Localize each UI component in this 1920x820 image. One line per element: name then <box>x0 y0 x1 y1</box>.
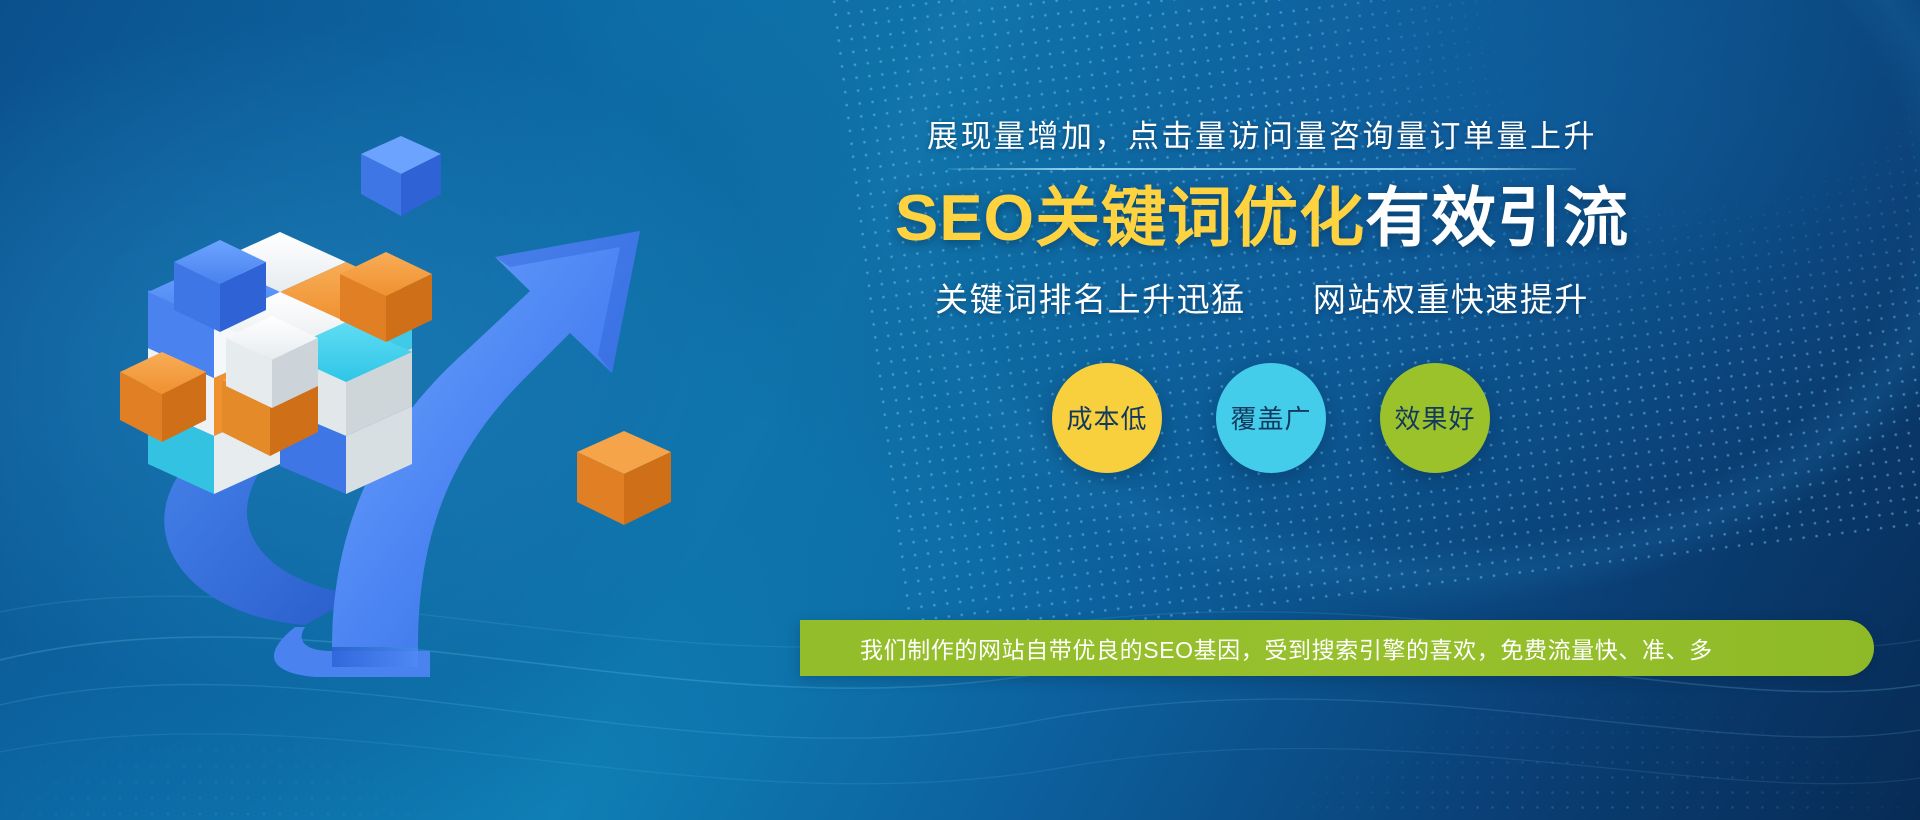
subline-right: 网站权重快速提升 <box>1313 281 1589 318</box>
badge-group: 成本低 覆盖广 效果好 <box>712 363 1812 473</box>
footer-note-pill: 我们制作的网站自带优良的SEO基因，受到搜索引擎的喜欢，免费流量快、准、多 <box>800 620 1874 676</box>
footer-note-text: 我们制作的网站自带优良的SEO基因，受到搜索引擎的喜欢，免费流量快、准、多 <box>860 631 1713 665</box>
page-title: SEO关键词优化有效引流 <box>712 180 1812 257</box>
subline-text: 关键词排名上升迅猛 网站权重快速提升 <box>712 273 1812 321</box>
badge-label: 效果好 <box>1394 399 1475 436</box>
badge-wide-coverage[interactable]: 覆盖广 <box>1216 363 1326 473</box>
small-orange-cube <box>570 425 678 533</box>
kicker-text: 展现量增加，点击量访问量咨询量订单量上升 <box>712 120 1812 168</box>
headline-highlight: SEO关键词优化 <box>895 181 1365 254</box>
arrow-body-shadow <box>332 647 418 667</box>
divider-rule <box>948 168 1576 170</box>
badge-label: 成本低 <box>1066 399 1147 436</box>
badge-good-results[interactable]: 效果好 <box>1380 363 1490 473</box>
subline-left: 关键词排名上升迅猛 <box>935 281 1246 318</box>
rubiks-cube-3d <box>120 230 440 530</box>
banner-content: 展现量增加，点击量访问量咨询量订单量上升 SEO关键词优化有效引流 关键词排名上… <box>712 120 1812 473</box>
seo-promo-banner: 展现量增加，点击量访问量咨询量订单量上升 SEO关键词优化有效引流 关键词排名上… <box>0 0 1920 820</box>
badge-label: 覆盖广 <box>1230 399 1311 436</box>
badge-low-cost[interactable]: 成本低 <box>1052 363 1162 473</box>
small-blue-cube <box>355 130 447 222</box>
headline-rest: 有效引流 <box>1365 181 1629 254</box>
